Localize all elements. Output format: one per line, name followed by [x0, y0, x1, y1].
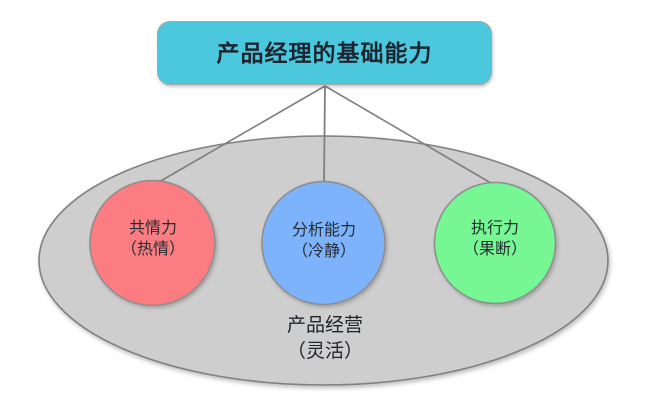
diagram-canvas: 产品经理的基础能力 共情力 （热情） 分析能力 （冷静） 执行力 （果断） 产品… — [0, 0, 649, 405]
diagram-title-text: 产品经理的基础能力 — [217, 42, 433, 65]
group-caption-line2: （灵活） — [215, 339, 435, 365]
node-circle-analysis[interactable] — [262, 182, 385, 305]
diagram-title-box[interactable]: 产品经理的基础能力 — [157, 21, 492, 85]
node-circle-empathy[interactable] — [90, 181, 215, 306]
node-circle-execution[interactable] — [435, 183, 556, 304]
group-caption: 产品经营 （灵活） — [215, 313, 435, 365]
connector-line-analysis — [324, 86, 325, 184]
group-caption-line1: 产品经营 — [287, 315, 363, 336]
